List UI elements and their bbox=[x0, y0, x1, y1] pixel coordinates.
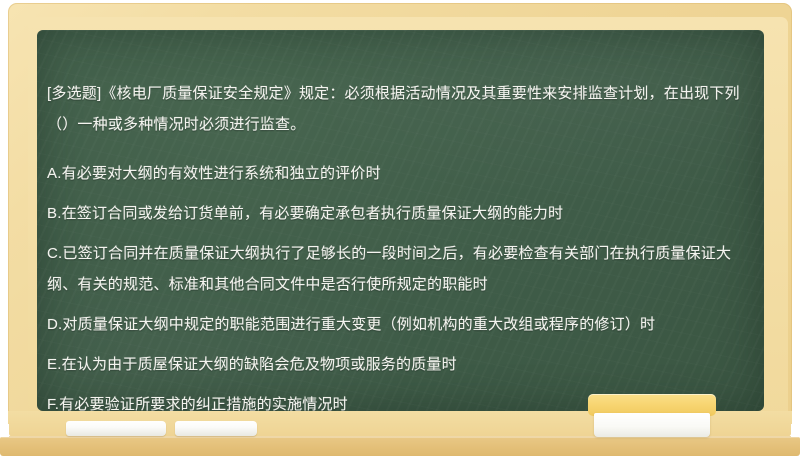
chalk-tray-front bbox=[0, 436, 800, 456]
page-corner-top-left bbox=[0, 0, 9, 6]
option-d[interactable]: D.对质量保证大纲中规定的职能范围进行重大变更（例如机构的重大改组或程序的修订）… bbox=[47, 309, 746, 340]
chalk-stick-right[interactable] bbox=[175, 421, 257, 436]
option-b[interactable]: B.在签订合同或发给订货单前，有必要确定承包者执行质量保证大纲的能力时 bbox=[47, 198, 746, 229]
page-corner-top-right bbox=[791, 0, 800, 6]
blackboard-eraser-icon[interactable] bbox=[588, 394, 716, 437]
question-text: [多选题]《核电厂质量保证安全规定》规定：必须根据活动情况及其重要性来安排监查计… bbox=[47, 78, 746, 140]
chalkboard-content: [多选题]《核电厂质量保证安全规定》规定：必须根据活动情况及其重要性来安排监查计… bbox=[37, 30, 764, 411]
chalk-stick-left[interactable] bbox=[66, 421, 166, 436]
chalkboard-surface: [多选题]《核电厂质量保证安全规定》规定：必须根据活动情况及其重要性来安排监查计… bbox=[37, 30, 764, 411]
option-e[interactable]: E.在认为由于质屋保证大纲的缺陷会危及物项或服务的质量时 bbox=[47, 349, 746, 380]
option-c[interactable]: C.已签订合同并在质量保证大纲执行了足够长的一段时间之后，有必要检查有关部门在执… bbox=[47, 238, 746, 300]
page-corner-bottom-right bbox=[791, 424, 800, 437]
option-a[interactable]: A.有必要对大纲的有效性进行系统和独立的评价时 bbox=[47, 158, 746, 189]
eraser-felt bbox=[594, 413, 710, 437]
page-corner-bottom-left bbox=[0, 424, 9, 437]
chalkboard-quiz-card: [多选题]《核电厂质量保证安全规定》规定：必须根据活动情况及其重要性来安排监查计… bbox=[0, 0, 800, 459]
